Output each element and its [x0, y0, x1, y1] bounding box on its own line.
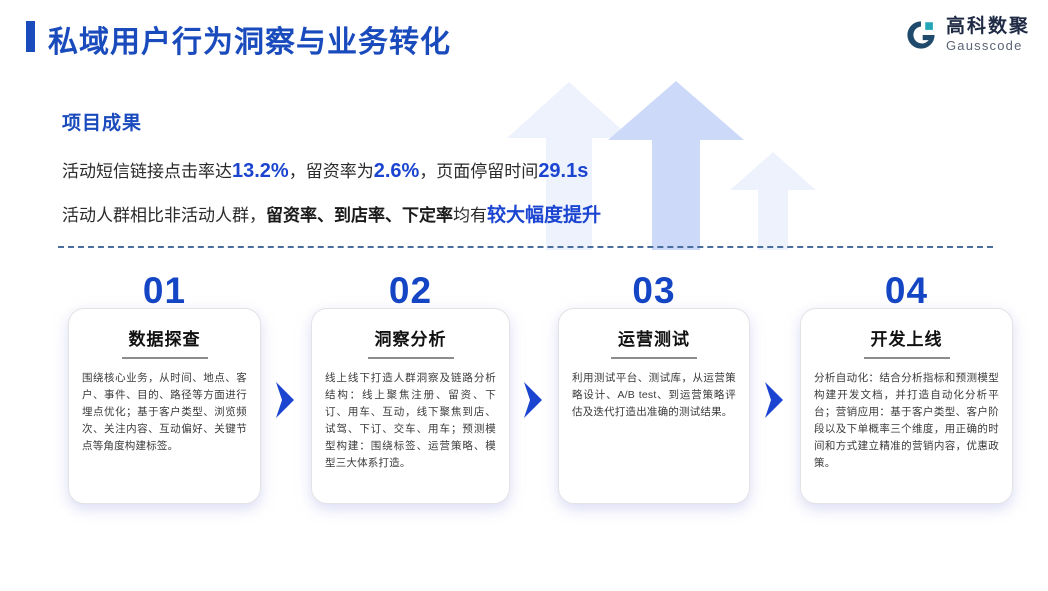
results-line2-seg2: 均有 [453, 206, 487, 225]
metric-click-rate: 13.2% [232, 160, 289, 182]
results-line2-highlight: 较大幅度提升 [487, 205, 601, 226]
brand-logo-text: 高科数聚 Gausscode [946, 17, 1030, 52]
page-title: 私域用户行为洞察与业务转化 [48, 17, 451, 61]
results-heading: 项目成果 [62, 108, 762, 135]
results-line-1: 活动短信链接点击率达13.2%，留资率为2.6%，页面停留时间29.1s [62, 159, 762, 183]
results-line2-bold-metrics: 留资率、到店率、下定率 [266, 206, 453, 225]
step-title-03: 运营测试 [572, 325, 736, 350]
brand-name-en: Gausscode [946, 39, 1030, 52]
step-number-02: 02 [311, 270, 510, 312]
chevron-right-icon-1 [272, 380, 298, 420]
step-card-01[interactable]: 01 数据探查 围绕核心业务，从时间、地点、客户、事件、目的、路径等方面进行埋点… [68, 308, 261, 504]
step-title-rule-03 [611, 357, 697, 359]
results-line2-seg1: 活动人群相比非活动人群， [62, 206, 266, 225]
title-accent-bar [26, 21, 35, 52]
brand-logo: 高科数聚 Gausscode [904, 17, 1030, 52]
section-divider [58, 246, 993, 248]
step-card-body-03[interactable]: 运营测试 利用测试平台、测试库，从运营策略设计、A/B test、到运营策略评估… [558, 308, 750, 504]
results-line1-seg2: ，留资率为 [289, 162, 374, 181]
results-line1-seg1: 活动短信链接点击率达 [62, 162, 232, 181]
step-description-03: 利用测试平台、测试库，从运营策略设计、A/B test、到运营策略评估及迭代打造… [572, 370, 736, 421]
step-card-02[interactable]: 02 洞察分析 线上线下打造人群洞察及链路分析结构：线上聚焦注册、留资、下订、用… [311, 308, 510, 504]
chevron-right-icon-2 [520, 380, 546, 420]
step-title-04: 开发上线 [814, 325, 999, 350]
step-description-04: 分析自动化：结合分析指标和预测模型构建开发文档，并打造自动化分析平台；营销应用：… [814, 370, 999, 472]
results-line-2: 活动人群相比非活动人群，留资率、到店率、下定率均有较大幅度提升 [62, 205, 762, 228]
chevron-right-icon-3 [761, 380, 787, 420]
step-card-04[interactable]: 04 开发上线 分析自动化：结合分析指标和预测模型构建开发文档，并打造自动化分析… [800, 308, 1013, 504]
step-title-rule-02 [368, 357, 454, 359]
metric-dwell-time: 29.1s [538, 160, 588, 182]
step-description-02: 线上线下打造人群洞察及链路分析结构：线上聚焦注册、留资、下订、用车、互动，线下聚… [325, 370, 496, 472]
gausscode-circle-logo-icon [904, 18, 938, 52]
metric-lead-rate: 2.6% [374, 160, 420, 182]
step-title-rule-01 [122, 357, 208, 359]
step-description-01: 围绕核心业务，从时间、地点、客户、事件、目的、路径等方面进行埋点优化；基于客户类… [82, 370, 247, 455]
step-title-01: 数据探查 [82, 325, 247, 350]
slide-header: 私域用户行为洞察与业务转化 高科数聚 Gausscode [0, 0, 1048, 78]
step-number-04: 04 [800, 270, 1013, 312]
step-card-body-04[interactable]: 开发上线 分析自动化：结合分析指标和预测模型构建开发文档，并打造自动化分析平台；… [800, 308, 1013, 504]
step-title-02: 洞察分析 [325, 325, 496, 350]
step-card-body-02[interactable]: 洞察分析 线上线下打造人群洞察及链路分析结构：线上聚焦注册、留资、下订、用车、互… [311, 308, 510, 504]
results-line1-seg3: ，页面停留时间 [419, 162, 538, 181]
project-results-section: 项目成果 活动短信链接点击率达13.2%，留资率为2.6%，页面停留时间29.1… [62, 108, 762, 250]
step-title-rule-04 [864, 357, 950, 359]
brand-name-cn: 高科数聚 [946, 17, 1030, 36]
step-number-03: 03 [558, 270, 750, 312]
step-number-01: 01 [68, 270, 261, 312]
step-card-body-01[interactable]: 数据探查 围绕核心业务，从时间、地点、客户、事件、目的、路径等方面进行埋点优化；… [68, 308, 261, 504]
process-steps: 01 数据探查 围绕核心业务，从时间、地点、客户、事件、目的、路径等方面进行埋点… [0, 272, 1048, 532]
step-card-03[interactable]: 03 运营测试 利用测试平台、测试库，从运营策略设计、A/B test、到运营策… [558, 308, 750, 504]
